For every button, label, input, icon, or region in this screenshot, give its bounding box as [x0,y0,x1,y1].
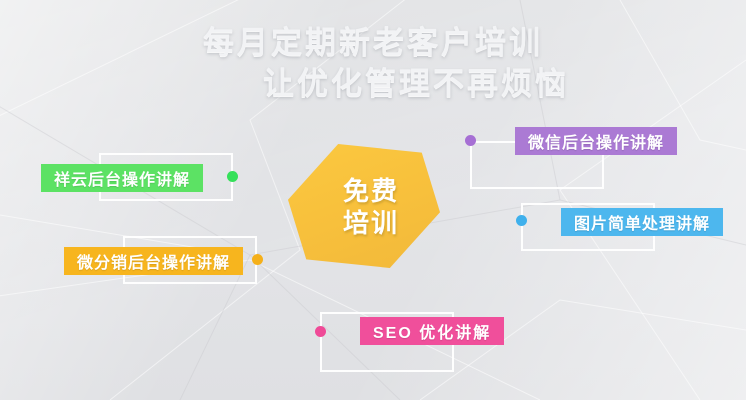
node-dot-weixin[interactable] [465,135,476,146]
poster-canvas: 每月定期新老客户培训 让优化管理不再烦恼 免费 培训 祥云后台操作讲解 微分销后… [0,0,746,400]
title-line-2: 让优化管理不再烦恼 [0,63,746,104]
node-dot-tupian[interactable] [516,215,527,226]
node-dot-seo[interactable] [315,326,326,337]
hexagon-label-line-2: 培训 [343,207,399,240]
label-chip-seo[interactable]: SEO 优化讲解 [360,317,504,345]
title-line-1: 每月定期新老客户培训 [0,22,746,63]
label-chip-weixin[interactable]: 微信后台操作讲解 [515,127,677,155]
page-title: 每月定期新老客户培训 让优化管理不再烦恼 [0,22,746,104]
node-dot-weifenxiao[interactable] [252,254,263,265]
hexagon-label: 免费 培训 [288,144,440,268]
label-chip-tupian[interactable]: 图片简单处理讲解 [561,208,723,236]
node-dot-xiangyun[interactable] [227,171,238,182]
label-chip-weifenxiao[interactable]: 微分销后台操作讲解 [64,247,243,275]
hexagon-label-line-1: 免费 [343,175,399,208]
label-chip-xiangyun[interactable]: 祥云后台操作讲解 [41,164,203,192]
center-hexagon: 免费 培训 [288,144,440,268]
